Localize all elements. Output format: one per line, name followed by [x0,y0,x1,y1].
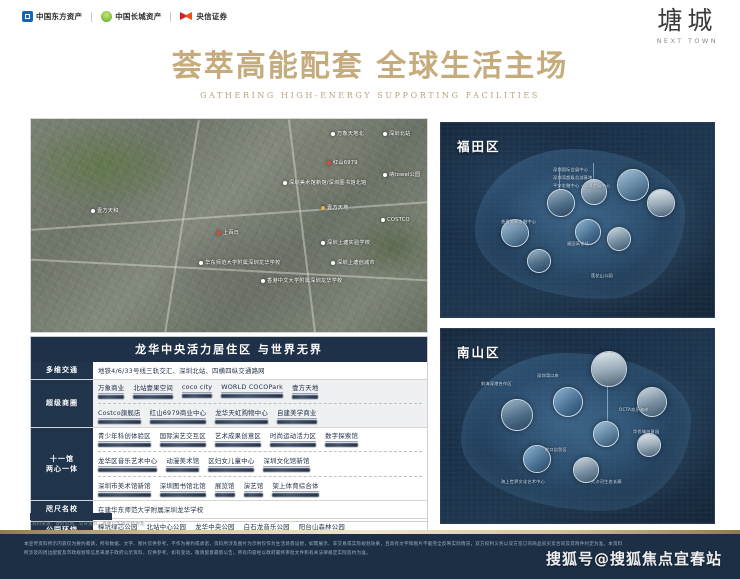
facility-distance-redacted [292,395,318,399]
poi-dot-icon [91,209,95,213]
poi-dot-icon [383,132,387,136]
watermark: 搜狐号@搜狐焦点宜春站 [546,548,722,569]
district-map-label: 大沙河生态长廊 [591,479,622,485]
brand-logo: 塘城 NEXT TOWN [657,8,718,45]
map-poi: 上百日 [217,229,239,236]
facility-name: 龙华区音乐艺术中心 [98,456,157,467]
table-cell-line: 深圳市美术馆新馆深圳图书馆北馆展览馆演艺馆架上体育综合体 [98,481,422,497]
facility-item: 区妇女儿童中心 [208,456,254,472]
facility-item: Costco旗舰店 [98,408,141,424]
table-row-label: 十一馆两心一体 [31,428,93,500]
facility-item: 架上体育综合体 [272,481,318,497]
poi-dot-icon [331,132,335,136]
logo-label: 中国东方资产 [36,11,82,22]
district-map-label: 福田高铁站 [567,241,589,247]
brand-name-cn: 塘城 [657,8,718,34]
facility-name: 红山6979商业中心 [150,408,207,419]
facility-name: Costco旗舰店 [98,408,141,419]
facility-name: coco city [182,383,212,393]
poi-label: 上百日 [223,229,239,236]
divider [91,12,92,22]
poi-dot-icon [199,261,203,265]
facility-name: 数字探索馆 [325,431,358,442]
page-title: 荟萃高能配套 全球生活主场 [0,50,740,85]
headline-block: 荟萃高能配套 全球生活主场 GATHERING HIGH-ENERGY SUPP… [0,50,740,100]
table-row: 超级商圈万象商业北站壹果空间coco cityWORLD COCOPark壹方天… [31,379,427,427]
logo-zhengquan: 央信证券 [180,11,227,22]
map-poi: 香港中文大学附属深圳龙华学校 [261,277,342,284]
poi-label: 香港中文大学附属深圳龙华学校 [267,277,342,284]
caption-block [30,513,112,520]
facility-name: 深圳文化馆新馆 [263,456,309,467]
label-line: 十一馆 [50,454,74,465]
circle-green-icon [101,11,112,22]
facility-item: 艺术成果创意区 [215,431,261,447]
facility-distance-redacted [263,468,309,472]
facility-distance-redacted [98,493,151,497]
poi-dot-icon [321,241,325,245]
table-cell-line: 龙华区音乐艺术中心动漫美术馆区妇女儿童中心深圳文化馆新馆 [98,456,422,472]
row-divider [98,451,422,452]
poi-label: 纳towel公园 [389,171,420,178]
facility-name: WORLD COCOPark [221,383,283,393]
photo-bubble [637,433,661,457]
partner-logo-bar: 中国东方资产 中国长城资产 央信证券 [22,11,227,22]
poi-dot-icon [283,181,287,185]
photo-bubble [591,351,627,387]
photo-bubble [501,399,533,431]
district-title: 福田区 [457,136,501,155]
divider [170,12,171,22]
photo-bubble [593,421,619,447]
district-map-label: OCTA欢乐海岸 [619,407,649,413]
poi-label: 深圳上塘创城市 [337,259,375,266]
facility-item: 青少年科创体验区 [98,431,151,447]
district-map-label: 蛇口自贸区 [545,447,567,453]
poi-dot-icon [381,218,385,222]
satellite-map: 万象天地北深圳北站红山6979纳towel公园深圳美术馆新馆/深圳图书馆北馆壹方… [30,118,428,333]
map-poi: 万象天地北 [331,130,364,137]
map-poi: 深圳北站 [383,130,411,137]
facility-item: 红山6979商业中心 [150,408,207,424]
label-line: 两心一体 [46,464,78,475]
facility-item: 壹方天地 [292,383,318,399]
district-title: 南山区 [457,342,501,361]
table-cell-line: Costco旗舰店红山6979商业中心龙华天虹购物中心自建美学商业 [98,408,422,424]
map-poi: 深圳上塘创城市 [331,259,375,266]
poi-dot-icon [331,261,335,265]
facility-distance-redacted [98,395,124,399]
facility-item: 国际演艺交互区 [160,431,206,447]
district-map-label: 海上世界文化艺术中心 [501,479,545,485]
facility-distance-redacted [221,394,283,398]
map-poi: 深圳美术馆新馆/深圳图书馆北馆 [283,179,366,186]
logo-label: 央信证券 [196,11,227,22]
table-caption-note: 资料来源：政府官网、公开资料，具体以实际交付为准 [32,521,145,527]
district-panel-futian: 福田区 深圳国际会展中心深圳湾超级总部基地平安金融中心 · 深圳会展中心福田高铁… [440,122,715,318]
facility-distance-redacted [208,468,254,472]
poi-label: COSTCO [387,217,410,223]
facility-distance-redacted [277,420,317,424]
district-map-label: 深圳湾超级总部基地 [553,175,593,181]
facility-distance-redacted [325,443,358,447]
facility-item: 数字探索馆 [325,431,358,447]
facility-distance-redacted [270,443,316,447]
photo-bubble [527,249,551,273]
table-title: 龙华中央活力居住区 与世界无界 [31,337,427,362]
facility-item: 演艺馆 [244,481,264,497]
facility-distance-redacted [150,420,207,424]
facility-item: 万象商业 [98,383,124,399]
poi-label: 深圳美术馆新馆/深圳图书馆北馆 [289,179,366,186]
photo-bubble [553,387,583,417]
photo-bubble [647,189,675,217]
photo-bubble [607,227,631,251]
facility-name: 壹方天地 [292,383,318,394]
facility-distance-redacted [215,420,268,424]
facility-distance-redacted [215,493,235,497]
table-cell-line: 青少年科创体验区国际演艺交互区艺术成果创意区时尚运动活力区数字探索馆 [98,431,422,447]
map-poi: 壹方天地 [321,204,349,211]
facility-item: WORLD COCOPark [221,383,283,398]
page-subtitle: GATHERING HIGH-ENERGY SUPPORTING FACILIT… [0,91,740,100]
poster-page: 中国东方资产 中国长城资产 央信证券 塘城 NEXT TOWN 荟萃高能配套 全… [0,0,740,579]
facility-distance-redacted [160,443,206,447]
facility-name: 架上体育综合体 [272,481,318,492]
map-poi: 红山6979 [327,159,358,166]
poi-dot-icon [261,279,265,283]
facility-distance-redacted [98,420,141,424]
table-row-content: 地铁4/6/33号线三轨交汇、深圳北站、四横四纵交通路网 [93,362,427,379]
facility-name: 万象商业 [98,383,124,394]
facility-distance-redacted [272,493,318,497]
poi-label: 深圳上塘实验学校 [327,239,370,246]
district-map-label: 深圳湾口岸 [537,373,559,379]
facility-name: 青少年科创体验区 [98,431,151,442]
facility-item: 深圳图书馆北馆 [160,481,206,497]
facility-item: coco city [182,383,212,398]
poi-label: 华东师范大学附属深圳龙华学校 [205,259,280,266]
facility-name: 时尚运动活力区 [270,431,316,442]
facility-name: 深圳市美术馆新馆 [98,481,151,492]
district-map-label: 深圳国际会展中心 [553,167,588,173]
facility-distance-redacted [98,443,151,447]
facility-item: 龙华天虹购物中心 [215,408,268,424]
disclaimer-text: 本宣传资料所示内容仅为要约邀请，所有数据、文字、图片仅供参考，不作为要约或承诺，… [24,541,624,558]
facility-distance-redacted [166,468,199,472]
facility-item: 北站壹果空间 [133,383,173,399]
facility-name: 动漫美术馆 [166,456,199,467]
district-map-label: 平安金融中心 · 深圳会展中心 [553,183,610,189]
facility-name: 艺术成果创意区 [215,431,261,442]
map-poi: 深圳上塘实验学校 [321,239,370,246]
district-map-label: 华侨城创意园 [633,429,659,435]
photo-bubble [617,169,649,201]
logo-label: 中国长城资产 [115,11,161,22]
poi-label: 壹方天和 [97,207,119,214]
row-divider [98,476,422,477]
district-map-label: 香蜜湖新金融中心 [501,219,536,225]
poi-dot-icon [321,206,325,210]
table-row-label: 多维交通 [31,362,93,379]
square-blue-icon [22,11,33,22]
poi-dot-icon [327,161,331,165]
table-cell-line: 万象商业北站壹果空间coco cityWORLD COCOPark壹方天地 [98,383,422,399]
facility-name: 展览馆 [215,481,235,492]
poi-label: 万象天地北 [337,130,364,137]
table-row-content: 青少年科创体验区国际演艺交互区艺术成果创意区时尚运动活力区数字探索馆龙华区音乐艺… [93,428,427,500]
poi-dot-icon [383,173,387,177]
table-row-label: 超级商圈 [31,380,93,427]
facility-item: 展览馆 [215,481,235,497]
table-row: 十一馆两心一体青少年科创体验区国际演艺交互区艺术成果创意区时尚运动活力区数字探索… [31,427,427,500]
facility-name: 龙华天虹购物中心 [215,408,268,419]
map-poi: COSTCO [381,217,410,223]
poi-dot-icon [217,231,221,235]
facility-item: 深圳文化馆新馆 [263,456,309,472]
poi-label: 壹方天地 [327,204,349,211]
facility-distance-redacted [215,443,261,447]
district-map-label: 莲花山公园 [591,273,613,279]
label-line: 超级商圈 [46,398,78,409]
district-map-label: 前海深港合作区 [481,381,512,387]
facility-name: 区妇女儿童中心 [208,456,254,467]
facility-name: 国际演艺交互区 [160,431,206,442]
arrow-red-icon [180,11,193,22]
facilities-table: 龙华中央活力居住区 与世界无界 多维交通地铁4/6/33号线三轨交汇、深圳北站、… [30,336,428,542]
photo-bubble [547,189,575,217]
facility-item: 自建美学商业 [277,408,317,424]
logo-dongfang: 中国东方资产 [22,11,82,22]
brand-name-en: NEXT TOWN [657,37,718,45]
label-line: 多维交通 [46,365,78,376]
facility-distance-redacted [244,493,264,497]
facility-name: 深圳图书馆北馆 [160,481,206,492]
facility-item: 深圳市美术馆新馆 [98,481,151,497]
facility-item: 动漫美术馆 [166,456,199,472]
facility-name: 演艺馆 [244,481,264,492]
facility-distance-redacted [133,395,173,399]
map-poi: 华东师范大学附属深圳龙华学校 [199,259,280,266]
row-divider [98,403,422,404]
facility-name: 自建美学商业 [277,408,317,419]
table-row-content: 万象商业北站壹果空间coco cityWORLD COCOPark壹方天地Cos… [93,380,427,427]
logo-changcheng: 中国长城资产 [101,11,161,22]
table-cell-text: 地铁4/6/33号线三轨交汇、深圳北站、四横四纵交通路网 [98,365,422,376]
facility-distance-redacted [182,394,212,398]
facility-name: 北站壹果空间 [133,383,173,394]
poi-label: 深圳北站 [389,130,411,137]
facility-distance-redacted [98,468,157,472]
marker-stem [607,385,608,421]
map-poi: 纳towel公园 [383,171,420,178]
facility-distance-redacted [160,493,206,497]
facility-item: 龙华区音乐艺术中心 [98,456,157,472]
poi-label: 红山6979 [333,159,358,166]
facility-item: 时尚运动活力区 [270,431,316,447]
map-poi: 壹方天和 [91,207,119,214]
table-row: 多维交通地铁4/6/33号线三轨交汇、深圳北站、四横四纵交通路网 [31,362,427,379]
district-panel-nanshan: 南山区 前海深港合作区深圳湾口岸OCTA欢乐海岸华侨城创意园蛇口自贸区海上世界文… [440,328,715,524]
